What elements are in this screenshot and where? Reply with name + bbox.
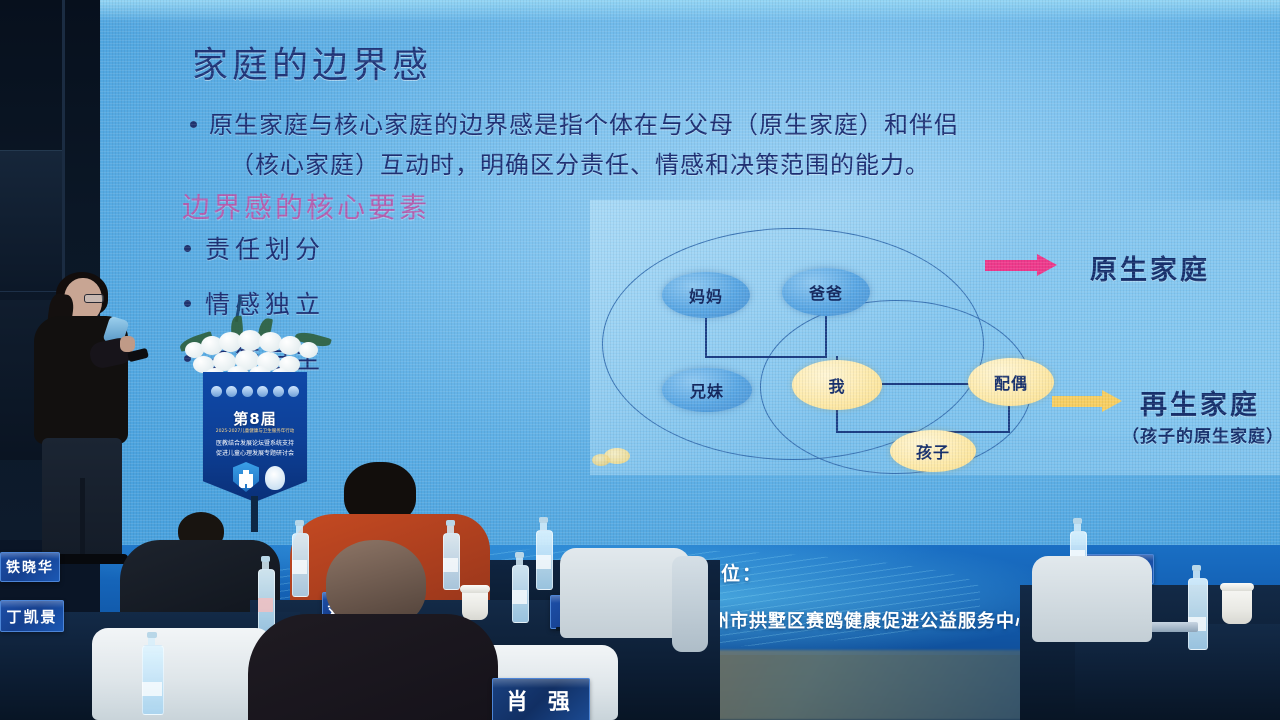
glasses-icon (84, 294, 104, 303)
chair-2 (560, 548, 690, 638)
label-new-family-note: （孩子的原生家庭） (1122, 422, 1280, 447)
footer-organization-name: 杭州市拱墅区赛鸥健康促进公益服务中心 (692, 607, 1034, 633)
slide-subheading: 边界感的核心要素 (182, 186, 430, 226)
diagram-node-sibling: 兄妹 (662, 368, 752, 412)
flower-bouquet (175, 310, 335, 380)
diagram-node-child: 孩子 (890, 430, 976, 472)
bullet-dot-icon (190, 121, 197, 128)
family-boundary-diagram: 妈妈 爸爸 兄妹 我 配偶 孩子 原生家庭 再生家庭 （孩子的原生家庭） (590, 200, 1280, 475)
nameplate-ding-kaijing: 丁凯景 (0, 600, 64, 632)
coffee-cup-2[interactable] (1222, 588, 1252, 624)
banner-line-2: 医教结合发展论坛暨系统支持 (207, 438, 303, 447)
chair-1 (92, 628, 272, 720)
banner-line-3: 促进儿童心理发展专题研讨会 (207, 448, 303, 457)
connector-parents-bar (705, 356, 827, 358)
chair-5 (672, 556, 708, 652)
audience-person-3 (248, 540, 498, 720)
water-bottle-4[interactable] (512, 552, 527, 626)
diagram-node-me: 我 (792, 360, 882, 410)
label-origin-family: 原生家庭 (1090, 248, 1210, 287)
coin-decoration-small-icon (592, 454, 610, 466)
presenter-leg-gap (80, 478, 85, 556)
diagram-node-mom: 妈妈 (662, 272, 750, 318)
slide-paragraph-line-1: 原生家庭与核心家庭的边界感是指个体在与父母（原生家庭）和伴侣 (190, 105, 959, 140)
bullet-item-1: 责任划分 (184, 230, 325, 266)
connector-me-down (836, 408, 838, 432)
connector-spouse-down (1008, 404, 1010, 432)
connector-me-spouse (882, 383, 970, 385)
mascot-icon (265, 466, 285, 490)
water-bottle-7[interactable] (1188, 565, 1206, 655)
slide-title: 家庭的边界感 (192, 36, 432, 88)
bullet-dot-icon (184, 300, 191, 307)
water-bottle-5[interactable] (536, 517, 551, 593)
presenter-hand (120, 336, 135, 352)
bullet-item-1-label: 责任划分 (205, 235, 325, 264)
connector-dad-down (825, 316, 827, 358)
person-3-body (248, 614, 498, 720)
connector-mom-down (705, 316, 707, 358)
bullet-dot-icon (184, 245, 191, 252)
shield-icon (233, 462, 259, 492)
nameplate-tie-xiaohua: 铁晓华 (0, 552, 60, 582)
conference-room-scene: 家庭的边界感 原生家庭与核心家庭的边界感是指个体在与父母（原生家庭）和伴侣 （核… (0, 0, 1280, 720)
banner-line-1: 2025-2027儿童健康与卫生服务年行动 (207, 428, 303, 434)
water-bottle-8[interactable] (142, 632, 162, 720)
slide-paragraph-line-2: （核心家庭）互动时，明确区分责任、情感和决策范围的能力。 (230, 145, 930, 180)
banner-sponsor-icons (211, 386, 299, 398)
diagram-node-dad: 爸爸 (782, 268, 870, 316)
screen-top-band (100, 0, 1280, 22)
banner-edition-label: 第8届 (203, 408, 307, 429)
nameplate-xiao-qiang: 肖 强 (492, 678, 590, 720)
diagram-node-spouse: 配偶 (968, 358, 1054, 406)
label-new-family: 再生家庭 (1140, 383, 1260, 422)
chair-4 (1032, 556, 1152, 642)
wall-panel-upper (0, 150, 63, 292)
paragraph-line-1-text: 原生家庭与核心家庭的边界感是指个体在与父母（原生家庭）和伴侣 (209, 111, 959, 139)
